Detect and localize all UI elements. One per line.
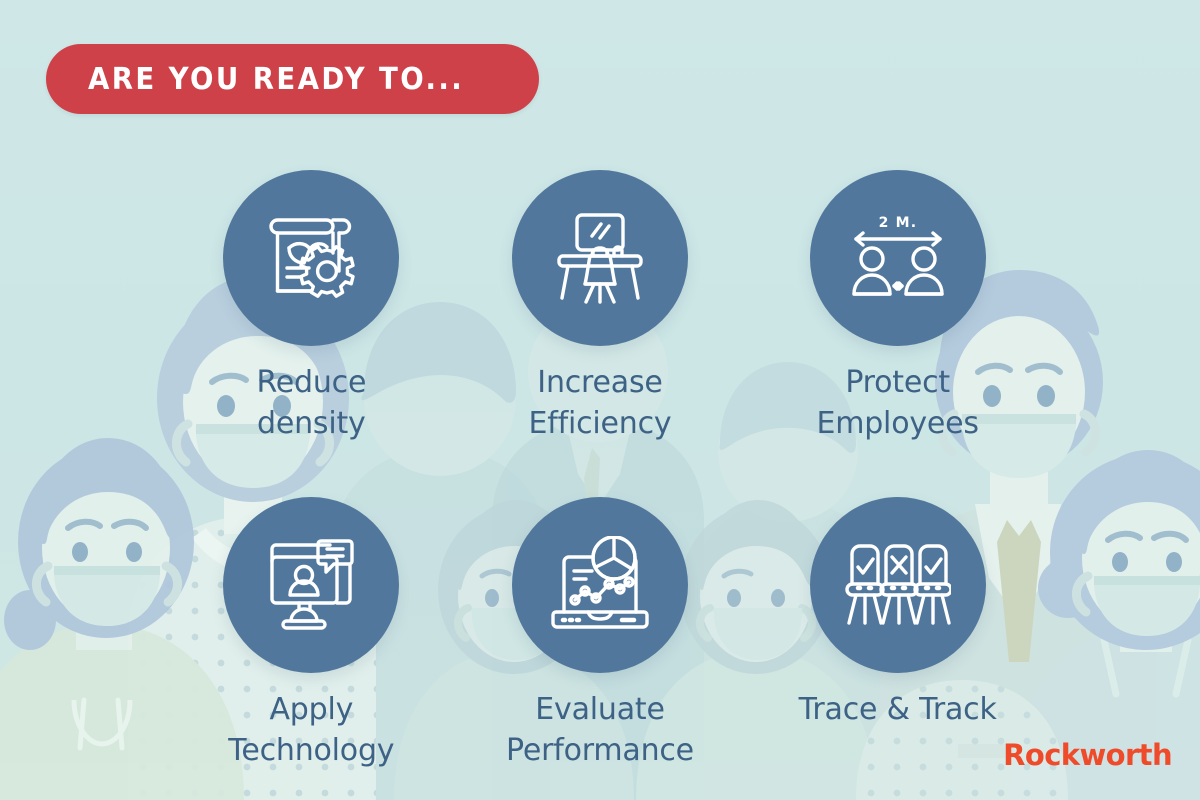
seating-check-cross-icon xyxy=(845,537,951,633)
video-conference-icon xyxy=(259,533,363,637)
icon-circle-protect-employees: 2 M. xyxy=(810,170,986,346)
ready-badge-label: ARE YOU READY TO... xyxy=(88,62,464,97)
benefits-grid: Reduce density xyxy=(0,170,1200,772)
icon-circle-apply-technology xyxy=(223,497,399,673)
benefit-item-apply-technology[interactable]: Apply Technology xyxy=(166,497,457,772)
benefit-label-reduce-density: Reduce density xyxy=(256,362,366,445)
chair-blocked-2 xyxy=(881,546,917,623)
benefit-item-protect-employees[interactable]: 2 M. xyxy=(765,170,1030,445)
icon-circle-reduce-density xyxy=(223,170,399,346)
icon-circle-trace-track xyxy=(810,497,986,673)
infographic-canvas: ARE YOU READY TO... xyxy=(0,0,1200,800)
benefit-item-increase-efficiency[interactable]: Increase Efficiency xyxy=(457,170,744,445)
benefit-label-trace-track: Trace & Track xyxy=(799,689,997,730)
rockworth-logo: Rockworth xyxy=(1003,738,1172,772)
benefit-item-trace-track[interactable]: Trace & Track xyxy=(765,497,1030,772)
icon-circle-increase-efficiency xyxy=(512,170,688,346)
benefit-label-increase-efficiency: Increase Efficiency xyxy=(529,362,672,445)
distance-label: 2 M. xyxy=(878,215,917,231)
blueprint-gear-icon xyxy=(261,208,361,308)
ready-badge: ARE YOU READY TO... xyxy=(46,44,539,114)
chair-available-3 xyxy=(915,546,951,623)
workstation-desk-icon xyxy=(548,206,652,310)
social-distancing-icon: 2 M. xyxy=(844,210,952,306)
benefit-label-evaluate-performance: Evaluate Performance xyxy=(506,689,694,772)
benefit-label-protect-employees: Protect Employees xyxy=(816,362,978,445)
icon-circle-evaluate-performance xyxy=(512,497,688,673)
benefit-label-apply-technology: Apply Technology xyxy=(228,689,394,772)
benefit-item-reduce-density[interactable]: Reduce density xyxy=(166,170,457,445)
chair-available-1 xyxy=(847,546,883,623)
benefit-item-evaluate-performance[interactable]: Evaluate Performance xyxy=(457,497,744,772)
laptop-analytics-icon xyxy=(548,536,652,634)
